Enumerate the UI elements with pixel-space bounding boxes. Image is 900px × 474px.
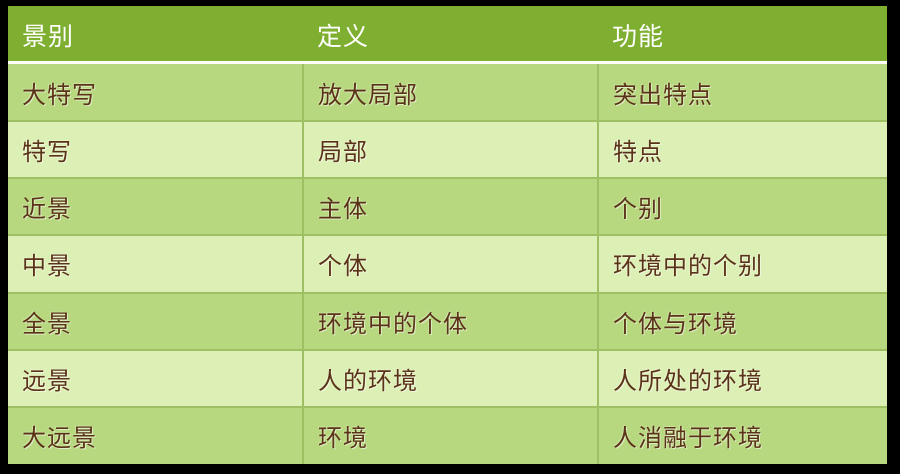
cell-definition: 环境中的个体: [303, 293, 598, 350]
cell-scale: 远景: [8, 350, 303, 407]
table-header-row: 景别 定义 功能: [8, 6, 887, 64]
table-container: 景别 定义 功能 大特写 放大局部 突出特点 特写 局部 特点 近景: [8, 6, 887, 464]
cell-definition: 放大局部: [303, 64, 598, 121]
shot-size-table: 景别 定义 功能 大特写 放大局部 突出特点 特写 局部 特点 近景: [8, 6, 887, 464]
cell-scale: 特写: [8, 121, 303, 178]
table-row: 全景 环境中的个体 个体与环境: [8, 293, 887, 350]
cell-scale: 大特写: [8, 64, 303, 121]
cell-scale: 中景: [8, 235, 303, 292]
cell-function: 个体与环境: [598, 293, 887, 350]
cell-definition: 人的环境: [303, 350, 598, 407]
cell-function: 特点: [598, 121, 887, 178]
cell-function: 突出特点: [598, 64, 887, 121]
table-row: 大远景 环境 人消融于环境: [8, 407, 887, 464]
table-row: 特写 局部 特点: [8, 121, 887, 178]
cell-scale: 全景: [8, 293, 303, 350]
cell-scale: 大远景: [8, 407, 303, 464]
column-header-function: 功能: [598, 6, 887, 64]
table-row: 大特写 放大局部 突出特点: [8, 64, 887, 121]
cell-definition: 主体: [303, 178, 598, 235]
cell-definition: 环境: [303, 407, 598, 464]
screenshot-canvas: 景别 定义 功能 大特写 放大局部 突出特点 特写 局部 特点 近景: [0, 0, 900, 474]
table-body: 大特写 放大局部 突出特点 特写 局部 特点 近景 主体 个别 中景 个体: [8, 64, 887, 464]
column-header-scale: 景别: [8, 6, 303, 64]
cell-function: 环境中的个别: [598, 235, 887, 292]
cell-function: 个别: [598, 178, 887, 235]
cell-function: 人所处的环境: [598, 350, 887, 407]
table-row: 中景 个体 环境中的个别: [8, 235, 887, 292]
column-header-definition: 定义: [303, 6, 598, 64]
cell-definition: 局部: [303, 121, 598, 178]
cell-definition: 个体: [303, 235, 598, 292]
table-row: 近景 主体 个别: [8, 178, 887, 235]
cell-scale: 近景: [8, 178, 303, 235]
table-row: 远景 人的环境 人所处的环境: [8, 350, 887, 407]
cell-function: 人消融于环境: [598, 407, 887, 464]
table-header: 景别 定义 功能: [8, 6, 887, 64]
